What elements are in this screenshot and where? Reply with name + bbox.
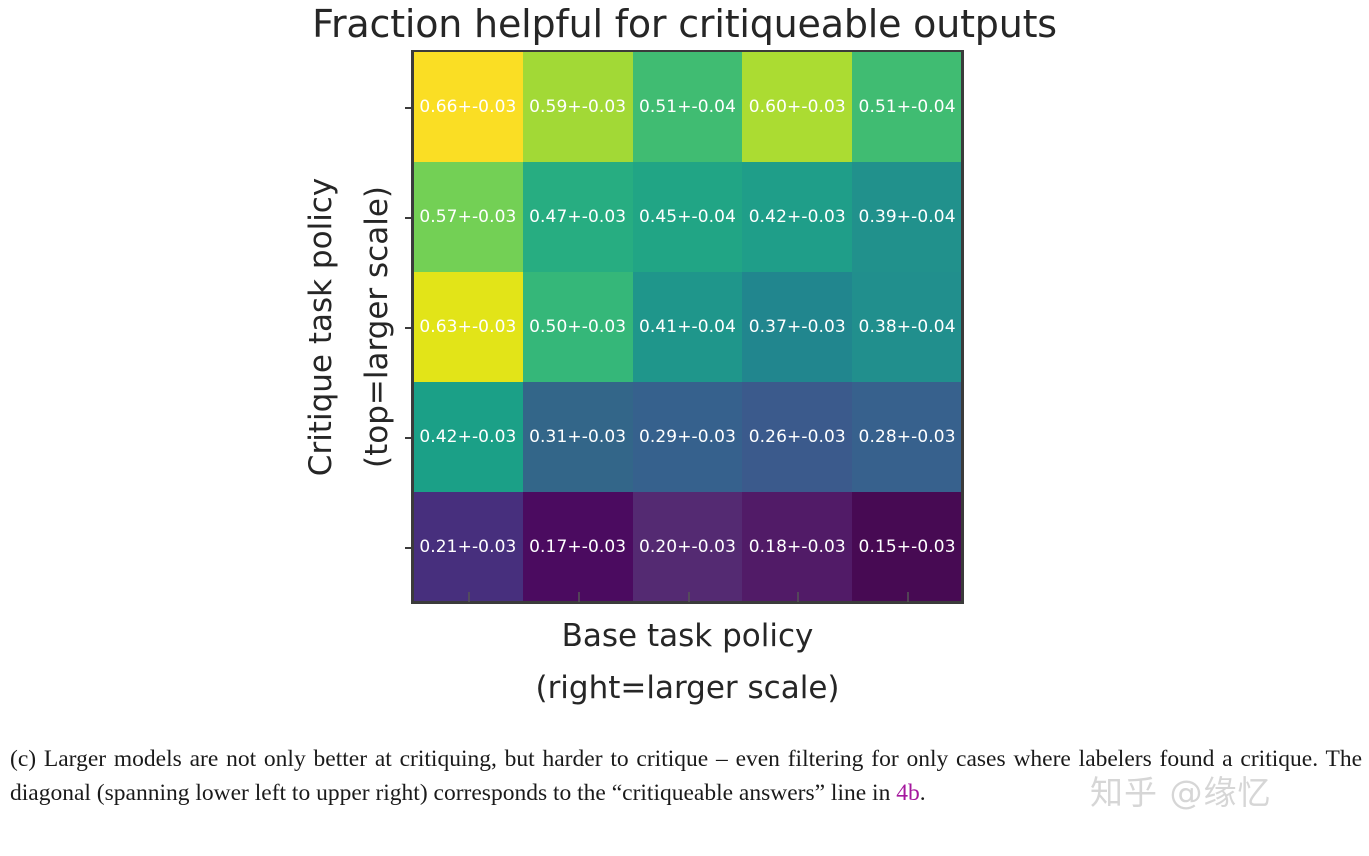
x-axis-tick [797,592,799,602]
heatmap-cell: 0.28+-0.03 [852,382,962,492]
x-axis-tick [468,592,470,602]
caption-suffix: . [920,780,926,806]
y-axis-tick [405,437,414,439]
x-axis-tick [578,592,580,602]
heatmap-cell-label: 0.60+-0.03 [749,97,846,117]
y-axis-tick [405,327,414,329]
x-axis-label: Base task policy (right=larger scale) [413,610,962,714]
heatmap-cell: 0.17+-0.03 [523,492,633,602]
heatmap-cell-label: 0.29+-0.03 [639,427,736,447]
heatmap-cell: 0.18+-0.03 [742,492,852,602]
y-axis-label-wrapper: Critique task policy (top=larger scale) [289,52,409,602]
heatmap-cell-label: 0.45+-0.04 [639,207,736,227]
heatmap-cell: 0.15+-0.03 [852,492,962,602]
heatmap-cell-label: 0.15+-0.03 [859,537,956,557]
heatmap-cell-label: 0.39+-0.04 [859,207,956,227]
x-axis-tick [688,592,690,602]
heatmap-cell: 0.47+-0.03 [523,162,633,272]
heatmap-cell-label: 0.20+-0.03 [639,537,736,557]
heatmap-cell: 0.21+-0.03 [413,492,523,602]
heatmap-cell-label: 0.18+-0.03 [749,537,846,557]
heatmap-cell-label: 0.28+-0.03 [859,427,956,447]
heatmap-grid: 0.66+-0.030.59+-0.030.51+-0.040.60+-0.03… [413,52,962,602]
heatmap-cell: 0.41+-0.04 [633,272,743,382]
y-axis-tick [405,217,414,219]
heatmap-cell: 0.50+-0.03 [523,272,633,382]
heatmap-cell-label: 0.26+-0.03 [749,427,846,447]
y-axis-label-line2: (top=larger scale) [349,178,405,476]
heatmap-cell: 0.38+-0.04 [852,272,962,382]
heatmap-cell-label: 0.63+-0.03 [419,317,516,337]
heatmap-cell-label: 0.37+-0.03 [749,317,846,337]
chart-title: Fraction helpful for critiqueable output… [0,0,1369,48]
heatmap-cell-label: 0.17+-0.03 [529,537,626,557]
y-axis-label-line1: Critique task policy [293,178,349,476]
figure-caption: (c) Larger models are not only better at… [10,742,1362,810]
heatmap-cell: 0.51+-0.04 [633,52,743,162]
heatmap-cell: 0.66+-0.03 [413,52,523,162]
heatmap-cell: 0.37+-0.03 [742,272,852,382]
y-axis-tick [405,547,414,549]
heatmap-cell: 0.45+-0.04 [633,162,743,272]
caption-text: (c) Larger models are not only better at… [10,746,1362,806]
heatmap-cell: 0.42+-0.03 [742,162,852,272]
figure-panel: Fraction helpful for critiqueable output… [0,0,1369,730]
heatmap-cell: 0.59+-0.03 [523,52,633,162]
heatmap-cell-label: 0.31+-0.03 [529,427,626,447]
x-axis-label-line1: Base task policy [413,610,962,662]
axis-spine-right [961,51,962,604]
heatmap-cell-label: 0.50+-0.03 [529,317,626,337]
heatmap-cell-label: 0.51+-0.04 [859,97,956,117]
heatmap-cell-label: 0.51+-0.04 [639,97,736,117]
caption-reference-link[interactable]: 4b [896,780,920,806]
x-axis-tick [907,592,909,602]
heatmap-cell-label: 0.38+-0.04 [859,317,956,337]
heatmap-cell: 0.20+-0.03 [633,492,743,602]
axis-spine-top [411,51,964,52]
x-axis-label-line2: (right=larger scale) [413,662,962,714]
heatmap-cell: 0.29+-0.03 [633,382,743,492]
y-axis-label: Critique task policy (top=larger scale) [293,178,405,476]
heatmap-cell: 0.39+-0.04 [852,162,962,272]
heatmap-cell-label: 0.42+-0.03 [749,207,846,227]
heatmap-cell-label: 0.41+-0.04 [639,317,736,337]
heatmap-cell-label: 0.66+-0.03 [419,97,516,117]
heatmap-cell: 0.57+-0.03 [413,162,523,272]
heatmap-cell: 0.26+-0.03 [742,382,852,492]
heatmap-cell: 0.51+-0.04 [852,52,962,162]
heatmap-cell-label: 0.59+-0.03 [529,97,626,117]
heatmap-cell: 0.31+-0.03 [523,382,633,492]
heatmap-cell-label: 0.42+-0.03 [419,427,516,447]
heatmap-cell-label: 0.57+-0.03 [419,207,516,227]
heatmap-cell-label: 0.21+-0.03 [419,537,516,557]
heatmap-cell: 0.60+-0.03 [742,52,852,162]
heatmap-cell-label: 0.47+-0.03 [529,207,626,227]
y-axis-tick [405,107,414,109]
heatmap-cell: 0.63+-0.03 [413,272,523,382]
heatmap-cell: 0.42+-0.03 [413,382,523,492]
